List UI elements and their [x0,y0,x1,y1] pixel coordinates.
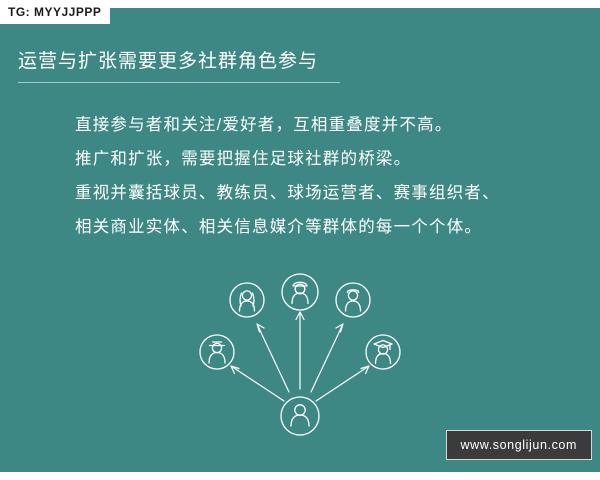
slide-body: 直接参与者和关注/爱好者，互相重叠度并不高。 推广和扩张，需要把握住足球社群的桥… [75,108,545,244]
page-title: 运营与扩张需要更多社群角色参与 [18,46,582,82]
body-line: 重视并囊括球员、教练员、球场运营者、赛事组织者、 [75,176,545,210]
footer-url: www.songlijun.com [446,430,593,460]
body-line: 相关商业实体、相关信息媒介等群体的每一个个体。 [75,210,545,244]
node-outer-person-right [366,335,400,369]
arrow-group [231,312,369,401]
tg-badge: TG: MYYJJPPP [0,0,110,24]
body-line: 推广和扩张，需要把握住足球社群的桥梁。 [75,142,545,176]
node-center-person [281,397,319,435]
node-outer-person-left-upper [230,283,264,317]
node-outer-person-top [282,274,318,310]
community-roles-diagram [165,256,435,436]
node-outer-person-left [200,335,234,369]
node-outer-person-right-upper [336,283,370,317]
title-underline [18,82,340,83]
body-line: 直接参与者和关注/爱好者，互相重叠度并不高。 [75,108,545,142]
slide-title-block: 运营与扩张需要更多社群角色参与 [18,46,582,83]
slide-canvas: 运营与扩张需要更多社群角色参与 直接参与者和关注/爱好者，互相重叠度并不高。 推… [0,8,600,472]
